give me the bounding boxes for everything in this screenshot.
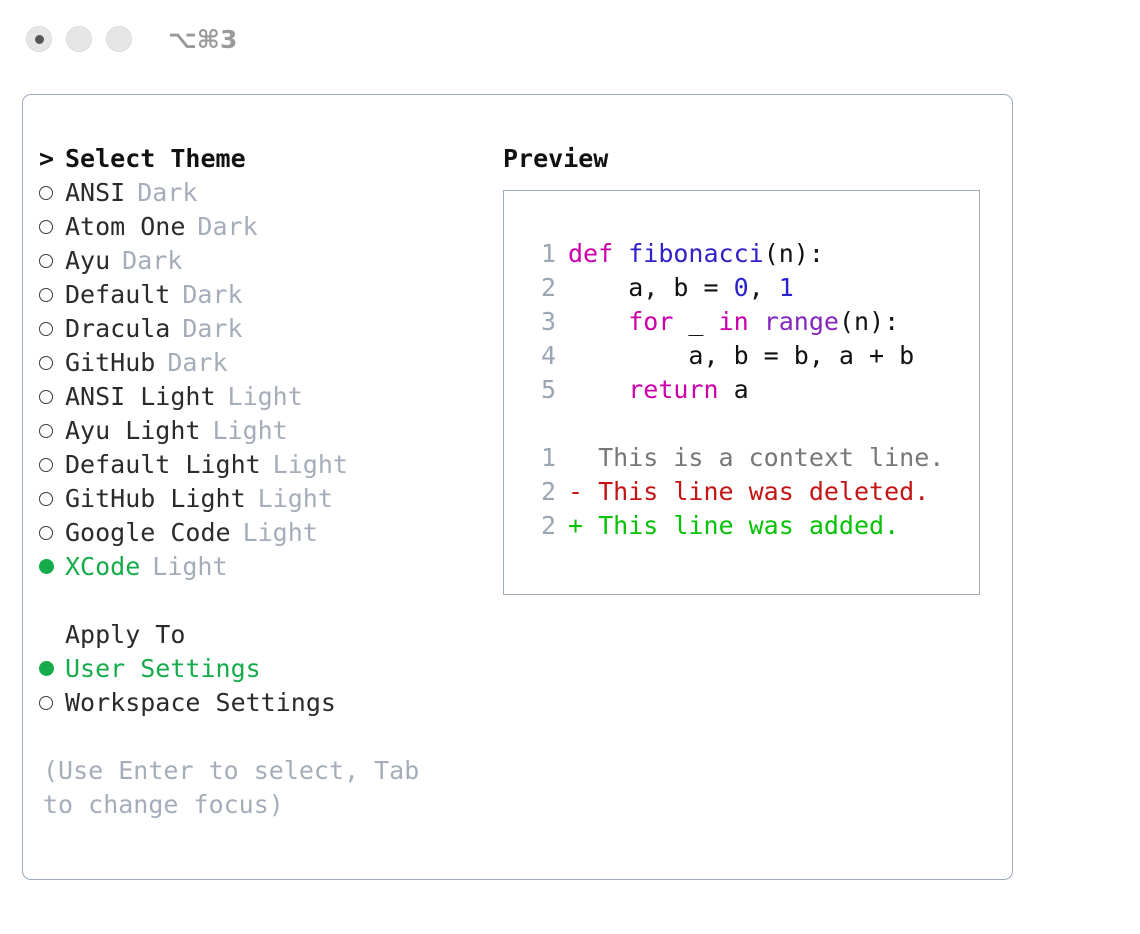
code-preview: 1def fibonacci(n):2 a, b = 0, 13 for _ i… xyxy=(504,237,979,407)
theme-option-row[interactable]: Google CodeLight xyxy=(39,516,503,550)
radio-unselected-icon[interactable] xyxy=(39,176,65,210)
diff-line-number: 2 xyxy=(522,509,556,543)
code-line: 1def fibonacci(n): xyxy=(504,237,979,271)
code-line-number: 2 xyxy=(522,271,556,305)
theme-option-row[interactable]: Atom OneDark xyxy=(39,210,503,244)
apply-to-option-label: User Settings xyxy=(65,652,261,686)
diff-text: This line was added. xyxy=(583,511,899,540)
diff-text: This line was deleted. xyxy=(583,477,929,506)
keyboard-hint-text: (Use Enter to select, Tab to change focu… xyxy=(39,754,463,822)
theme-option-kind: Dark xyxy=(197,210,257,244)
theme-option-name: Ayu Light xyxy=(65,414,200,448)
radio-unselected-icon[interactable] xyxy=(39,380,65,414)
code-token-call: range xyxy=(764,307,839,336)
record-indicator-button[interactable] xyxy=(26,26,52,52)
diff-line-text: This is a context line. xyxy=(568,441,944,475)
theme-option-name: Atom One xyxy=(65,210,185,244)
preview-box: 1def fibonacci(n):2 a, b = 0, 13 for _ i… xyxy=(503,190,980,595)
theme-option-name: ANSI Light xyxy=(65,380,216,414)
code-line-text: return a xyxy=(568,373,749,407)
code-token-plain: _ xyxy=(673,307,718,336)
radio-unselected-icon[interactable] xyxy=(39,244,65,278)
theme-options-list: ANSIDarkAtom OneDarkAyuDarkDefaultDarkDr… xyxy=(39,176,503,584)
diff-line-text: - This line was deleted. xyxy=(568,475,929,509)
diff-sign: - xyxy=(568,477,583,506)
radio-selected-icon[interactable] xyxy=(39,550,65,584)
code-token-num: 1 xyxy=(779,273,794,302)
theme-option-name: ANSI xyxy=(65,176,125,210)
select-theme-title: Select Theme xyxy=(65,142,246,176)
diff-line-number: 2 xyxy=(522,475,556,509)
keyboard-shortcut-label: ⌥⌘3 xyxy=(168,25,237,54)
theme-option-kind: Light xyxy=(273,448,348,482)
code-line-text: a, b = b, a + b xyxy=(568,339,914,373)
apply-to-options-list: User SettingsWorkspace Settings xyxy=(39,652,503,720)
radio-unselected-icon[interactable] xyxy=(39,346,65,380)
code-line-text: for _ in range(n): xyxy=(568,305,899,339)
radio-unselected-icon[interactable] xyxy=(39,278,65,312)
code-line-number: 5 xyxy=(522,373,556,407)
theme-option-name: XCode xyxy=(65,550,140,584)
code-line: 4 a, b = b, a + b xyxy=(504,339,979,373)
theme-option-name: Default xyxy=(65,278,170,312)
radio-unselected-icon[interactable] xyxy=(39,414,65,448)
theme-option-name: Ayu xyxy=(65,244,110,278)
apply-to-title: Apply To xyxy=(65,618,185,652)
diff-line: 2- This line was deleted. xyxy=(504,475,979,509)
diff-line: 2+ This line was added. xyxy=(504,509,979,543)
theme-option-row[interactable]: GitHubDark xyxy=(39,346,503,380)
titlebar-button-2[interactable] xyxy=(66,26,92,52)
titlebar-button-3[interactable] xyxy=(106,26,132,52)
theme-option-name: Default Light xyxy=(65,448,261,482)
theme-option-kind: Light xyxy=(258,482,333,516)
preview-title: Preview xyxy=(503,142,1012,176)
code-token-kw: in xyxy=(719,307,749,336)
code-token-plain: (n): xyxy=(839,307,899,336)
diff-line-number: 1 xyxy=(522,441,556,475)
code-token-num: 0 xyxy=(734,273,749,302)
theme-option-name: GitHub xyxy=(65,346,155,380)
theme-option-kind: Light xyxy=(212,414,287,448)
code-token-plain: a, b = xyxy=(568,273,734,302)
theme-option-row[interactable]: AyuDark xyxy=(39,244,503,278)
apply-to-option-row[interactable]: Workspace Settings xyxy=(39,686,503,720)
code-token-plain xyxy=(568,375,628,404)
code-token-plain: a xyxy=(719,375,749,404)
select-theme-heading: > Select Theme xyxy=(39,142,503,176)
theme-option-row[interactable]: XCodeLight xyxy=(39,550,503,584)
window-titlebar: ⌥⌘3 xyxy=(0,0,1140,78)
code-token-kw: def xyxy=(568,239,628,268)
theme-option-row[interactable]: GitHub LightLight xyxy=(39,482,503,516)
theme-option-row[interactable]: DefaultDark xyxy=(39,278,503,312)
theme-option-name: Dracula xyxy=(65,312,170,346)
diff-text: This is a context line. xyxy=(583,443,944,472)
diff-line-text: + This line was added. xyxy=(568,509,899,543)
code-token-plain: , xyxy=(749,273,779,302)
theme-option-row[interactable]: Ayu LightLight xyxy=(39,414,503,448)
theme-option-row[interactable]: Default LightLight xyxy=(39,448,503,482)
diff-sign xyxy=(568,443,583,472)
radio-unselected-icon[interactable] xyxy=(39,686,65,720)
radio-unselected-icon[interactable] xyxy=(39,516,65,550)
preview-column: Preview 1def fibonacci(n):2 a, b = 0, 13… xyxy=(503,95,1012,879)
section-spacer xyxy=(39,584,503,618)
code-line-number: 1 xyxy=(522,237,556,271)
apply-to-option-label: Workspace Settings xyxy=(65,686,336,720)
code-line-number: 3 xyxy=(522,305,556,339)
code-line-number: 4 xyxy=(522,339,556,373)
theme-option-kind: Dark xyxy=(182,312,242,346)
code-token-kw: for xyxy=(628,307,673,336)
theme-option-kind: Dark xyxy=(137,176,197,210)
theme-option-row[interactable]: DraculaDark xyxy=(39,312,503,346)
theme-option-kind: Light xyxy=(243,516,318,550)
theme-option-name: GitHub Light xyxy=(65,482,246,516)
theme-picker-panel: > Select Theme ANSIDarkAtom OneDarkAyuDa… xyxy=(22,94,1013,880)
record-dot-icon xyxy=(35,35,44,44)
theme-option-name: Google Code xyxy=(65,516,231,550)
caret-icon: > xyxy=(39,142,65,176)
theme-option-row[interactable]: ANSIDark xyxy=(39,176,503,210)
theme-option-kind: Dark xyxy=(122,244,182,278)
diff-preview: 1 This is a context line.2- This line wa… xyxy=(504,441,979,543)
radio-unselected-icon[interactable] xyxy=(39,482,65,516)
code-line: 3 for _ in range(n): xyxy=(504,305,979,339)
apply-to-heading: Apply To xyxy=(39,618,503,652)
code-token-plain: a, b = b, a + b xyxy=(568,341,914,370)
theme-option-kind: Light xyxy=(228,380,303,414)
theme-option-kind: Dark xyxy=(182,278,242,312)
diff-line: 1 This is a context line. xyxy=(504,441,979,475)
code-line: 2 a, b = 0, 1 xyxy=(504,271,979,305)
radio-unselected-icon[interactable] xyxy=(39,448,65,482)
code-token-plain: (n): xyxy=(764,239,824,268)
radio-unselected-icon[interactable] xyxy=(39,312,65,346)
code-line-text: def fibonacci(n): xyxy=(568,237,824,271)
code-token-kw: return xyxy=(628,375,718,404)
code-token-fn: fibonacci xyxy=(628,239,763,268)
code-token-plain xyxy=(568,307,628,336)
theme-option-kind: Light xyxy=(152,550,227,584)
theme-option-kind: Dark xyxy=(167,346,227,380)
code-line: 5 return a xyxy=(504,373,979,407)
theme-list-column: > Select Theme ANSIDarkAtom OneDarkAyuDa… xyxy=(23,95,503,879)
code-token-plain xyxy=(749,307,764,336)
code-diff-spacer xyxy=(504,407,979,441)
diff-sign: + xyxy=(568,511,583,540)
radio-unselected-icon[interactable] xyxy=(39,210,65,244)
apply-to-option-row[interactable]: User Settings xyxy=(39,652,503,686)
code-line-text: a, b = 0, 1 xyxy=(568,271,794,305)
app-window: ⌥⌘3 > Select Theme ANSIDarkAtom OneDarkA… xyxy=(0,0,1140,934)
radio-selected-icon[interactable] xyxy=(39,652,65,686)
theme-option-row[interactable]: ANSI LightLight xyxy=(39,380,503,414)
